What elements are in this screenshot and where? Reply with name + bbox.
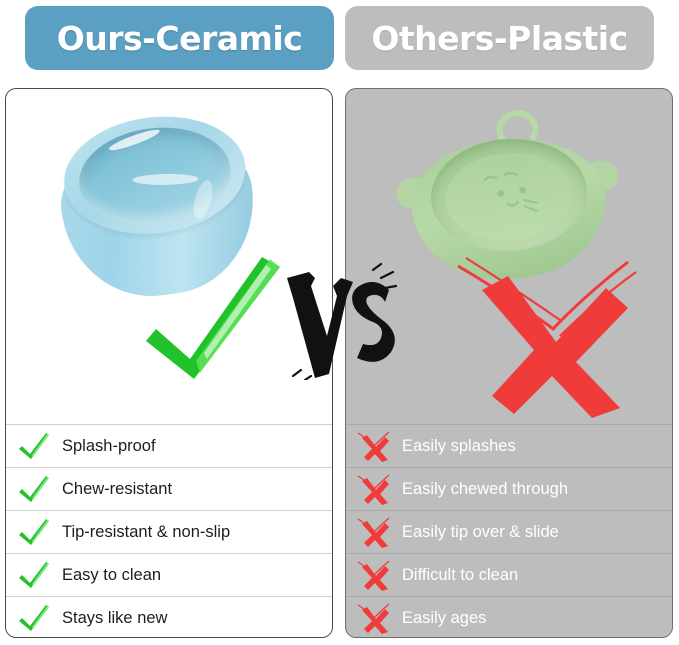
list-item-label: Tip-resistant & non-slip (62, 523, 230, 542)
cross-icon (346, 516, 402, 548)
list-item-label: Easy to clean (62, 566, 161, 585)
tab-ours-ceramic-label: Ours-Ceramic (57, 19, 303, 58)
plastic-bowl-illustration (387, 101, 630, 317)
check-icon (6, 517, 62, 547)
list-item-label: Chew-resistant (62, 480, 172, 499)
list-item[interactable]: Stays like new (6, 596, 332, 638)
cat-face-emboss-icon (479, 169, 542, 221)
list-item[interactable]: Splash-proof (6, 424, 332, 467)
tab-ours-ceramic[interactable]: Ours-Ceramic (25, 6, 334, 70)
product-image-ceramic (6, 89, 332, 424)
list-item-label: Easily splashes (402, 437, 516, 456)
list-item[interactable]: Easily tip over & slide (346, 510, 672, 553)
list-item[interactable]: Tip-resistant & non-slip (6, 510, 332, 553)
feature-list-ceramic: Splash-proof Chew-resistant Tip-resistan… (6, 424, 332, 638)
check-icon (6, 474, 62, 504)
cross-icon (346, 473, 402, 505)
tab-others-plastic[interactable]: Others-Plastic (345, 6, 654, 70)
list-item[interactable]: Easily splashes (346, 424, 672, 467)
tab-others-plastic-label: Others-Plastic (371, 19, 627, 58)
list-item-label: Stays like new (62, 609, 167, 628)
list-item-label: Easily ages (402, 609, 486, 628)
panel-ours-ceramic: Splash-proof Chew-resistant Tip-resistan… (5, 88, 333, 638)
list-item[interactable]: Easily ages (346, 596, 672, 638)
list-item[interactable]: Easily chewed through (346, 467, 672, 510)
product-image-plastic (346, 89, 672, 424)
list-item[interactable]: Difficult to clean (346, 553, 672, 596)
cross-icon (346, 430, 402, 462)
panel-others-plastic: Easily splashes Easily chewed through (345, 88, 673, 638)
list-item-label: Easily tip over & slide (402, 523, 559, 542)
check-icon (6, 560, 62, 590)
list-item[interactable]: Easy to clean (6, 553, 332, 596)
list-item-label: Difficult to clean (402, 566, 518, 585)
cross-icon (346, 602, 402, 634)
check-icon (6, 603, 62, 633)
feature-list-plastic: Easily splashes Easily chewed through (346, 424, 672, 638)
list-item[interactable]: Chew-resistant (6, 467, 332, 510)
ceramic-bowl-illustration (45, 105, 271, 314)
check-icon (6, 431, 62, 461)
list-item-label: Easily chewed through (402, 480, 568, 499)
list-item-label: Splash-proof (62, 437, 156, 456)
cross-icon (346, 559, 402, 591)
